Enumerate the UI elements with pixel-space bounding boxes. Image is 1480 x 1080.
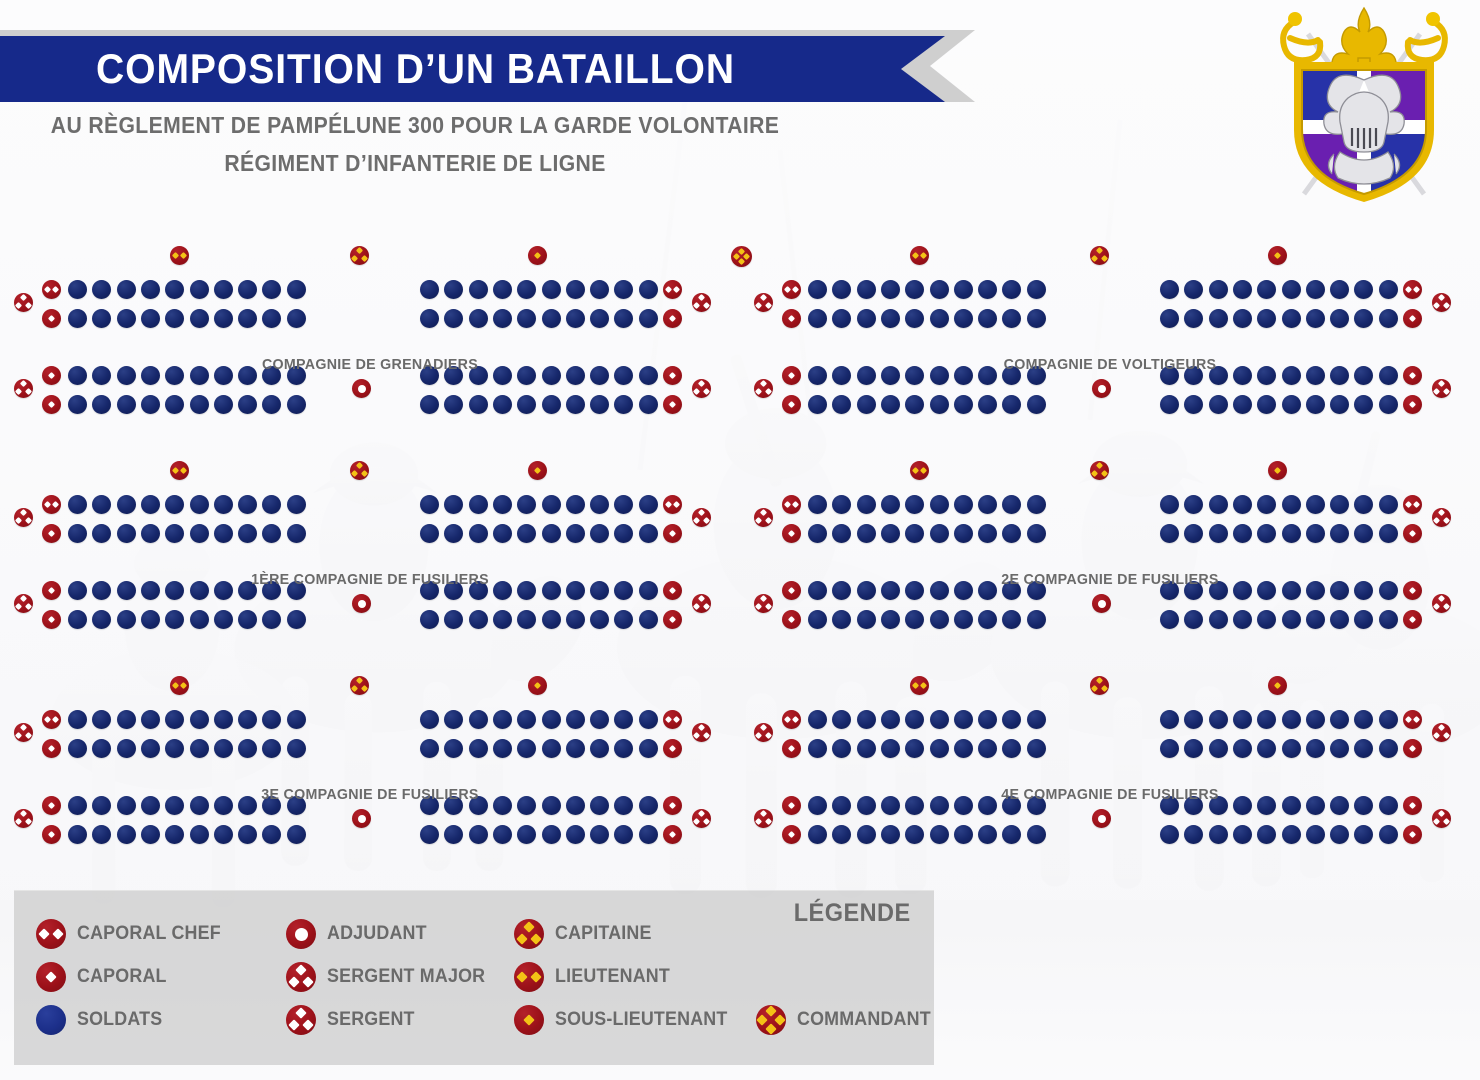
rank-diamond: [15, 388, 22, 395]
nco-sergent-major: [14, 809, 33, 828]
soldier-pip: [639, 495, 658, 514]
subtitle-line-1: AU RÈGLEMENT DE PAMPÉLUNE 300 POUR LA GA…: [51, 112, 779, 138]
soldier-pip: [287, 710, 306, 729]
soldier-pip: [566, 825, 585, 844]
soldier-pip: [141, 495, 160, 514]
rank-diamond: [669, 530, 676, 537]
soldier-pip: [1282, 825, 1301, 844]
rank-diamond: [25, 517, 32, 524]
company-label-fusiliers-3: 3E COMPAGNIE DE FUSILIERS: [19, 786, 722, 803]
soldier-pip: [92, 495, 111, 514]
soldier-pip: [566, 309, 585, 328]
soldier-pip: [1354, 309, 1373, 328]
rank-diamond: [703, 388, 710, 395]
soldier-pip: [1160, 524, 1179, 543]
rank-diamond: [703, 302, 710, 309]
soldier-pip: [165, 739, 184, 758]
rank-caporal: [782, 309, 801, 328]
nco-sergent-major: [14, 508, 33, 527]
rank-diamond: [788, 802, 795, 809]
soldier-pip: [469, 739, 488, 758]
soldier-pip: [68, 495, 87, 514]
rank-diamond: [765, 603, 772, 610]
soldier-pip: [287, 280, 306, 299]
rank-diamond: [765, 732, 772, 739]
rank-diamond: [755, 302, 762, 309]
nco-sergent-major: [692, 293, 711, 312]
soldier-pip: [1233, 710, 1252, 729]
rank-diamond: [698, 595, 705, 602]
legend-badge-sous-lieutenant: [514, 1005, 544, 1035]
soldier-pip: [287, 309, 306, 328]
legend-item-sous-lieutenant[interactable]: SOUS-LIEUTENANT: [514, 1005, 739, 1035]
soldier-pip: [420, 280, 439, 299]
rank-diamond: [1409, 401, 1416, 408]
soldier-pip: [857, 495, 876, 514]
soldier-pip: [930, 495, 949, 514]
soldier-pip: [1257, 825, 1276, 844]
officer-capitaine: [1090, 461, 1109, 480]
soldier-pip: [1160, 710, 1179, 729]
soldier-pip: [1233, 825, 1252, 844]
soldier-pip: [881, 825, 900, 844]
soldier-pip: [832, 825, 851, 844]
rank-diamond: [784, 286, 791, 293]
rank-diamond: [1409, 831, 1416, 838]
soldier-pip: [444, 825, 463, 844]
rank-caporal-chef: [1403, 710, 1422, 729]
soldier-pip: [1160, 610, 1179, 629]
soldier-pip: [165, 280, 184, 299]
soldier-pip: [1160, 309, 1179, 328]
nco-adjudant: [352, 809, 371, 828]
soldier-pip: [978, 524, 997, 543]
soldier-pip: [262, 524, 281, 543]
soldier-pip: [517, 710, 536, 729]
rank-caporal: [1403, 309, 1422, 328]
nco-sergent-major: [14, 379, 33, 398]
rank-diamond: [48, 745, 55, 752]
rank-diamond: [48, 372, 55, 379]
soldier-pip: [808, 610, 827, 629]
rank-diamond: [698, 724, 705, 731]
coat-of-arms-icon: [1264, 2, 1464, 207]
soldier-pip: [517, 309, 536, 328]
rank-diamond: [1413, 286, 1420, 293]
rank-caporal-chef: [663, 280, 682, 299]
rank-diamond: [25, 302, 32, 309]
soldier-pip: [68, 610, 87, 629]
soldier-pip: [978, 739, 997, 758]
rank-caporal-chef: [42, 495, 61, 514]
soldier-pip: [117, 309, 136, 328]
soldier-pip: [493, 495, 512, 514]
rank-diamond: [755, 732, 762, 739]
officer-capitaine: [1090, 246, 1109, 265]
soldier-pip: [1306, 309, 1325, 328]
soldier-pip: [287, 825, 306, 844]
soldier-pip: [1330, 524, 1349, 543]
soldier-pip: [517, 280, 536, 299]
rank-diamond: [1443, 388, 1450, 395]
rank-diamond: [530, 971, 541, 982]
soldier-pip: [262, 309, 281, 328]
rank-diamond: [356, 247, 363, 254]
soldier-pip: [1379, 309, 1398, 328]
soldier-pip: [1379, 610, 1398, 629]
legend-badge-caporal: [36, 962, 66, 992]
rank-caporal: [42, 309, 61, 328]
soldier-pip: [542, 495, 561, 514]
soldier-pip: [517, 739, 536, 758]
soldier-pip: [68, 280, 87, 299]
soldier-pip: [238, 739, 257, 758]
soldier-pip: [190, 610, 209, 629]
soldier-pip: [832, 495, 851, 514]
rank-caporal-chef: [782, 495, 801, 514]
legend-label-sergent-major: SERGENT MAJOR: [327, 966, 485, 988]
soldier-pip: [262, 280, 281, 299]
legend-badge-capitaine: [514, 919, 544, 949]
legend-item-caporal-chef[interactable]: CAPORAL CHEF: [36, 919, 230, 949]
soldier-pip: [1282, 395, 1301, 414]
soldier-pip: [808, 280, 827, 299]
legend-label-adjudant: ADJUDANT: [327, 923, 427, 945]
soldier-pip: [444, 524, 463, 543]
rank-diamond: [44, 501, 51, 508]
nco-sergent-major: [1432, 508, 1451, 527]
soldier-pip: [444, 710, 463, 729]
soldier-pip: [117, 395, 136, 414]
rank-diamond: [1101, 685, 1108, 692]
soldier-pip: [92, 309, 111, 328]
rank-diamond: [25, 818, 32, 825]
soldier-pip: [1160, 495, 1179, 514]
soldier-pip: [141, 610, 160, 629]
rank-caporal-chef: [42, 710, 61, 729]
soldier-pip: [469, 524, 488, 543]
soldier-pip: [117, 495, 136, 514]
soldier-pip: [881, 739, 900, 758]
rank-diamond: [356, 462, 363, 469]
soldier-pip: [1379, 739, 1398, 758]
soldier-pip: [141, 825, 160, 844]
rank-caporal: [782, 524, 801, 543]
rank-diamond: [788, 530, 795, 537]
company-block-voltigeurs: COMPAGNIE DE VOLTIGEURS: [740, 228, 1480, 433]
rank-diamond: [303, 1020, 314, 1031]
rank-caporal: [42, 395, 61, 414]
rank-caporal: [663, 825, 682, 844]
soldier-pip: [262, 610, 281, 629]
soldier-pip: [1379, 280, 1398, 299]
rank-diamond: [1443, 732, 1450, 739]
soldier-pip: [165, 710, 184, 729]
rank-diamond: [172, 467, 179, 474]
rank-caporal-chef: [782, 280, 801, 299]
soldier-pip: [1233, 395, 1252, 414]
soldier-pip: [639, 524, 658, 543]
soldier-pip: [881, 610, 900, 629]
soldier-pip: [1027, 395, 1046, 414]
rank-diamond: [517, 971, 528, 982]
soldier-pip: [978, 309, 997, 328]
soldier-pip: [420, 825, 439, 844]
legend-badge-caporal-chef: [36, 919, 66, 949]
title-banner: COMPOSITION D’UN BATAILLON: [0, 36, 945, 102]
soldier-pip: [1306, 280, 1325, 299]
rank-diamond: [788, 587, 795, 594]
soldier-pip: [808, 825, 827, 844]
soldier-pip: [930, 610, 949, 629]
soldier-pip: [1160, 739, 1179, 758]
soldier-pip: [1209, 395, 1228, 414]
soldier-pip: [444, 280, 463, 299]
soldier-pip: [639, 610, 658, 629]
soldier-pip: [857, 309, 876, 328]
rank-diamond: [15, 302, 22, 309]
soldier-pip: [1209, 309, 1228, 328]
nco-sergent-major: [692, 723, 711, 742]
soldier-pip: [68, 739, 87, 758]
soldier-pip: [857, 710, 876, 729]
rank-diamond: [669, 745, 676, 752]
soldier-pip: [1209, 710, 1228, 729]
soldier-pip: [469, 309, 488, 328]
adjudant-hole: [1098, 815, 1106, 823]
soldier-pip: [1002, 524, 1021, 543]
soldier-pip: [92, 524, 111, 543]
rank-diamond: [673, 501, 680, 508]
legend-item-soldats[interactable]: SOLDATS: [36, 1005, 168, 1035]
nco-adjudant: [352, 594, 371, 613]
rank-caporal: [1403, 739, 1422, 758]
officer-lieutenant: [910, 676, 929, 695]
soldier-pip: [1354, 825, 1373, 844]
soldier-pip: [1027, 739, 1046, 758]
rank-diamond: [1274, 467, 1281, 474]
rank-diamond: [669, 401, 676, 408]
nco-sergent-major: [1432, 723, 1451, 742]
legend-item-sergent-major[interactable]: SERGENT MAJOR: [286, 962, 495, 992]
soldier-pip: [444, 739, 463, 758]
soldier-pip: [1027, 495, 1046, 514]
soldier-pip: [542, 739, 561, 758]
soldier-pip: [493, 395, 512, 414]
soldier-pip: [1027, 610, 1046, 629]
rank-diamond: [20, 509, 27, 516]
rank-diamond: [755, 388, 762, 395]
soldier-pip: [1330, 280, 1349, 299]
nco-sergent-major: [754, 809, 773, 828]
soldier-pip: [1282, 495, 1301, 514]
soldier-pip: [117, 739, 136, 758]
officer-sous-lieutenant: [1268, 246, 1287, 265]
rank-diamond: [1413, 716, 1420, 723]
company-label-grenadiers: COMPAGNIE DE GRENADIERS: [19, 356, 722, 373]
legend-item-commandant[interactable]: COMMANDANT: [756, 1005, 939, 1035]
soldier-pip: [214, 710, 233, 729]
rank-diamond: [669, 616, 676, 623]
rank-caporal-chef: [1403, 280, 1422, 299]
soldier-pip: [1282, 524, 1301, 543]
soldier-pip: [141, 739, 160, 758]
soldier-pip: [954, 309, 973, 328]
soldier-pip: [238, 395, 257, 414]
soldier-pip: [857, 739, 876, 758]
rank-diamond: [1101, 255, 1108, 262]
soldier-pip: [493, 739, 512, 758]
rank-caporal-chef: [42, 280, 61, 299]
soldier-pip: [639, 395, 658, 414]
rank-diamond: [48, 401, 55, 408]
soldier-pip: [469, 825, 488, 844]
legend-item-sergent[interactable]: SERGENT: [286, 1005, 420, 1035]
legend-item-capitaine[interactable]: CAPITAINE: [514, 919, 658, 949]
soldier-pip: [542, 280, 561, 299]
soldier-pip: [1209, 495, 1228, 514]
soldier-pip: [262, 825, 281, 844]
soldier-pip: [92, 395, 111, 414]
rank-diamond: [765, 388, 772, 395]
soldier-pip: [1257, 739, 1276, 758]
rank-diamond: [738, 258, 745, 265]
rank-diamond: [792, 501, 799, 508]
soldier-pip: [590, 610, 609, 629]
rank-diamond: [1433, 517, 1440, 524]
rank-diamond: [288, 977, 299, 988]
rank-diamond: [703, 603, 710, 610]
soldier-pip: [808, 710, 827, 729]
soldier-pip: [1282, 280, 1301, 299]
soldier-pip: [117, 524, 136, 543]
soldier-pip: [1330, 825, 1349, 844]
rank-diamond: [703, 732, 710, 739]
rank-diamond: [534, 682, 541, 689]
rank-diamond: [516, 934, 527, 945]
rank-diamond: [743, 253, 750, 260]
soldier-pip: [808, 739, 827, 758]
rank-diamond: [757, 1014, 768, 1025]
rank-diamond: [920, 467, 927, 474]
rank-diamond: [15, 732, 22, 739]
nco-sergent-major: [692, 508, 711, 527]
soldier-pip: [1330, 739, 1349, 758]
company-block-fusiliers-2: 2E COMPAGNIE DE FUSILIERS: [740, 443, 1480, 648]
soldier-pip: [1306, 524, 1325, 543]
soldier-pip: [1354, 395, 1373, 414]
soldier-pip: [590, 710, 609, 729]
soldier-pip: [566, 524, 585, 543]
legend-badge-sergent-major: [286, 962, 316, 992]
rank-caporal: [1403, 395, 1422, 414]
soldier-pip: [190, 710, 209, 729]
soldier-pip: [420, 739, 439, 758]
company-label-voltigeurs: COMPAGNIE DE VOLTIGEURS: [759, 356, 1462, 373]
soldier-pip: [614, 309, 633, 328]
soldier-pip: [190, 309, 209, 328]
soldier-pip: [262, 495, 281, 514]
rank-diamond: [698, 380, 705, 387]
soldier-pip: [287, 495, 306, 514]
rank-diamond: [1405, 501, 1412, 508]
rank-diamond: [534, 467, 541, 474]
officer-sous-lieutenant: [528, 676, 547, 695]
soldier-pip: [1379, 524, 1398, 543]
legend-item-lieutenant[interactable]: LIEUTENANT: [514, 962, 677, 992]
soldier-pip: [1184, 610, 1203, 629]
soldier-pip: [1002, 825, 1021, 844]
soldier-pip: [1354, 610, 1373, 629]
rank-diamond: [534, 252, 541, 259]
soldier-pip: [1002, 495, 1021, 514]
soldier-pip: [214, 495, 233, 514]
soldier-pip: [68, 395, 87, 414]
nco-sergent-major: [1432, 379, 1451, 398]
rank-diamond: [295, 964, 306, 975]
soldier-pip: [190, 395, 209, 414]
soldier-pip: [1233, 739, 1252, 758]
soldier-pip: [1354, 710, 1373, 729]
soldier-pip: [92, 280, 111, 299]
soldier-pip: [1002, 610, 1021, 629]
rank-diamond: [788, 401, 795, 408]
soldier-pip: [190, 739, 209, 758]
soldier-pip: [954, 610, 973, 629]
soldier-pip: [930, 395, 949, 414]
soldier-pip: [117, 610, 136, 629]
legend-label-sous-lieutenant: SOUS-LIEUTENANT: [555, 1009, 727, 1031]
rank-diamond: [788, 745, 795, 752]
soldier-pip: [68, 825, 87, 844]
rank-caporal: [42, 524, 61, 543]
soldier-pip: [287, 395, 306, 414]
soldier-pip: [1330, 495, 1349, 514]
soldier-pip: [857, 610, 876, 629]
legend-item-adjudant[interactable]: ADJUDANT: [286, 919, 433, 949]
soldier-pip: [832, 280, 851, 299]
rank-diamond: [703, 517, 710, 524]
soldier-pip: [1233, 280, 1252, 299]
rank-caporal: [782, 825, 801, 844]
soldier-pip: [590, 739, 609, 758]
soldier-pip: [1209, 280, 1228, 299]
rank-diamond: [52, 501, 59, 508]
adjudant-hole: [1098, 385, 1106, 393]
soldier-pip: [1354, 495, 1373, 514]
soldier-pip: [190, 495, 209, 514]
soldier-pip: [444, 309, 463, 328]
rank-diamond: [693, 302, 700, 309]
soldier-pip: [832, 739, 851, 758]
page-title: COMPOSITION D’UN BATAILLON: [96, 45, 735, 93]
soldier-pip: [1257, 710, 1276, 729]
soldier-pip: [639, 309, 658, 328]
soldier-pip: [238, 495, 257, 514]
soldier-pip: [92, 610, 111, 629]
legend-label-lieutenant: LIEUTENANT: [555, 966, 670, 988]
rank-diamond: [361, 685, 368, 692]
rank-diamond: [765, 1023, 776, 1034]
soldier-pip: [214, 309, 233, 328]
soldier-pip: [614, 710, 633, 729]
legend-item-caporal[interactable]: CAPORAL: [36, 962, 172, 992]
rank-diamond: [774, 1014, 785, 1025]
soldier-pip: [614, 739, 633, 758]
rank-diamond: [351, 685, 358, 692]
soldier-pip: [1306, 825, 1325, 844]
soldier-pip: [954, 825, 973, 844]
